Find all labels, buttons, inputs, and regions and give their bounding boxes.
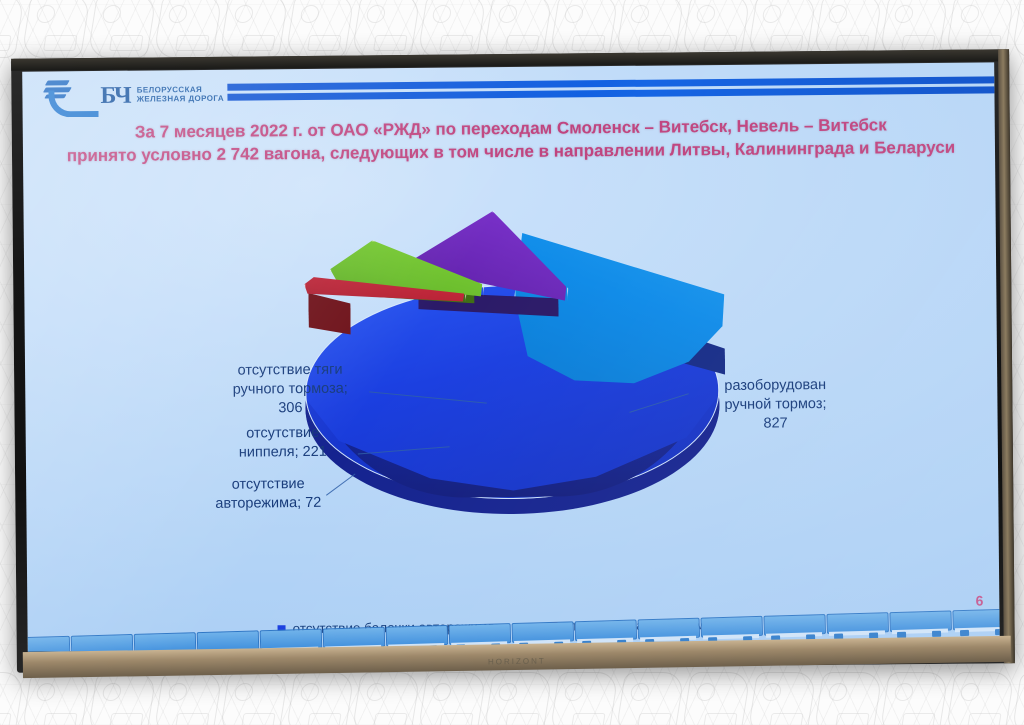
railway-logo-icon [44,79,94,113]
data-label-avtorezhima: отсутствие авторежима; 72 [178,474,358,513]
watermark-row-bottom [0,672,1024,725]
pie-chart: отсутствие тяги ручного тормоза; 306 отс… [23,172,999,571]
logo-abbreviation: БЧ [100,84,131,108]
logo-line-2: ЖЕЛЕЗНАЯ ДОРОГА [137,95,224,105]
logo-wordmark: БЕЛОРУССКАЯ ЖЕЛЕЗНАЯ ДОРОГА [137,86,224,105]
pie-slice-avtorezhima-depth [308,293,350,335]
data-label-nippelya: отсутствие ниппеля; 221 [194,423,372,462]
railcar-icon [763,614,824,642]
television-display: БЧ БЕЛОРУССКАЯ ЖЕЛЕЗНАЯ ДОРОГА За 7 меся… [11,49,1015,673]
slide-title: За 7 месяцев 2022 г. от ОАО «РЖД» по пер… [41,112,981,168]
tv-brand-label: HORIZONT [488,656,546,666]
header-accent-bars [227,76,994,100]
screenshot-root: БЧ БЕЛОРУССКАЯ ЖЕЛЕЗНАЯ ДОРОГА За 7 меся… [0,0,1024,725]
data-label-tyaga-ruchnogo-tormoza: отсутствие тяги ручного тормоза; 306 [201,360,380,418]
pie-graphic [295,185,728,519]
data-label-razoborudovan-ruchnoy-tormoz: разоборудован ручной тормоз; 827 [685,376,866,434]
watermark-row-top [0,0,1024,58]
railcar-icon [952,609,999,637]
railcar-icon [826,612,887,640]
company-logo: БЧ БЕЛОРУССКАЯ ЖЕЛЕЗНАЯ ДОРОГА [44,78,224,114]
presentation-slide: БЧ БЕЛОРУССКАЯ ЖЕЛЕЗНАЯ ДОРОГА За 7 меся… [22,62,1000,651]
railcar-icon [27,636,68,652]
railcar-icon [889,610,950,638]
railcar-icon [71,634,132,652]
